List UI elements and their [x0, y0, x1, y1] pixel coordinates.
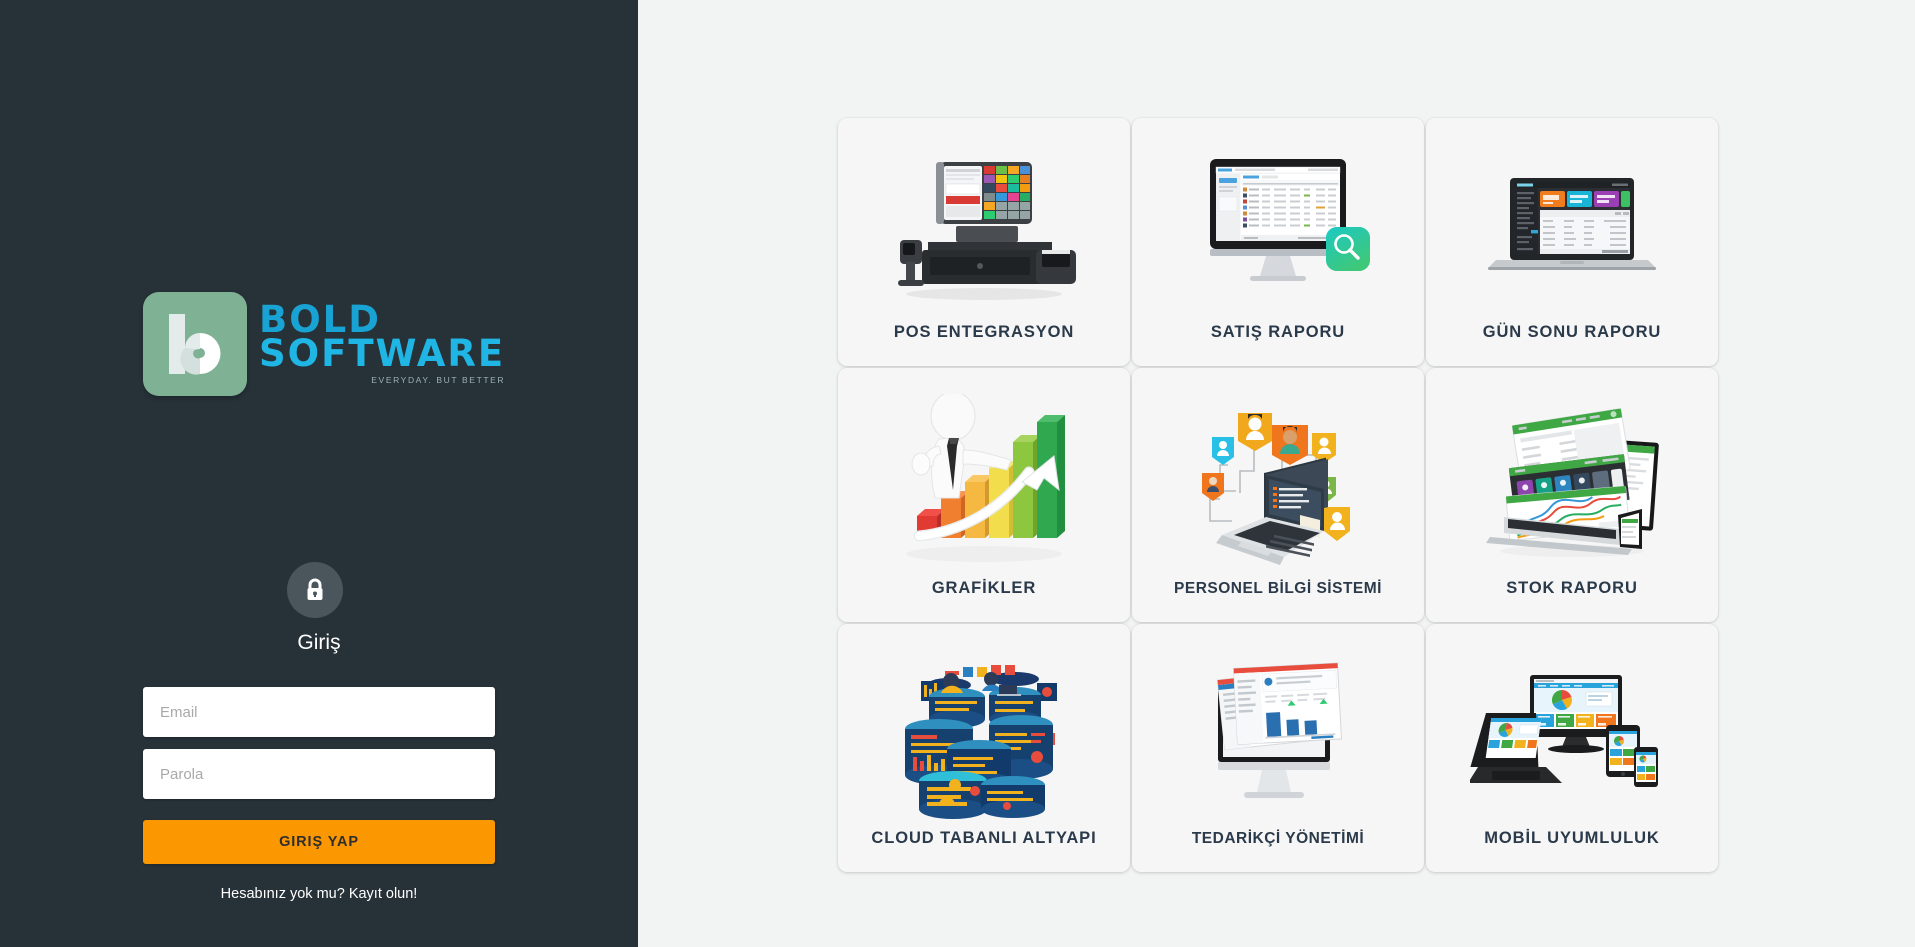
feature-card-title: GÜN SONU RAPORU: [1477, 323, 1668, 366]
feature-card-stok-raporu[interactable]: STOK RAPORU: [1426, 368, 1718, 622]
bar-chart-figure-image: [838, 384, 1130, 579]
feature-area: POS ENTEGRASYON: [638, 0, 1915, 947]
feature-card-gun-sonu-raporu[interactable]: GÜN SONU RAPORU: [1426, 118, 1718, 366]
logo-mark-icon: [143, 292, 247, 396]
login-panel: BOLD SOFTWARE EVERYDAY. BUT BETTER Giriş…: [0, 0, 638, 947]
login-submit-button[interactable]: GIRIŞ YAP: [143, 820, 495, 864]
database-cluster-image: [838, 640, 1130, 829]
email-field[interactable]: [143, 687, 495, 737]
feature-card-pos-entegrasyon[interactable]: POS ENTEGRASYON: [838, 118, 1130, 366]
feature-card-title: POS ENTEGRASYON: [888, 323, 1080, 366]
monitor-dashboard-windows-image: [1132, 640, 1424, 830]
feature-card-personel-bilgi-sistemi[interactable]: PERSONEL BİLGİ SİSTEMİ: [1132, 368, 1424, 622]
feature-card-grafikler[interactable]: GRAFİKLER: [838, 368, 1130, 622]
feature-grid: POS ENTEGRASYON: [838, 118, 1720, 874]
page-title: Giriş: [0, 631, 638, 655]
feature-card-title: TEDARİKÇİ YÖNETİMİ: [1186, 830, 1370, 872]
logo-tagline: EVERYDAY. BUT BETTER: [259, 377, 505, 385]
feature-card-cloud-tabanli-altyapi[interactable]: CLOUD TABANLI ALTYAPI: [838, 624, 1130, 872]
password-field[interactable]: [143, 749, 495, 799]
feature-card-mobil-uyumluluk[interactable]: MOBİL UYUMLULUK: [1426, 624, 1718, 872]
multi-device-responsive-image: [1426, 640, 1718, 829]
lock-icon: [287, 562, 343, 618]
feature-card-title: STOK RAPORU: [1500, 579, 1644, 622]
feature-card-title: MOBİL UYUMLULUK: [1478, 829, 1665, 872]
feature-card-tedarikci-yonetimi[interactable]: TEDARİKÇİ YÖNETİMİ: [1132, 624, 1424, 872]
feature-card-title: GRAFİKLER: [926, 579, 1042, 622]
logo-word-software: SOFTWARE: [259, 337, 505, 371]
feature-card-title: PERSONEL BİLGİ SİSTEMİ: [1168, 580, 1388, 622]
brand-logo: BOLD SOFTWARE EVERYDAY. BUT BETTER: [143, 292, 505, 396]
pos-terminal-image: [838, 134, 1130, 323]
login-form: GIRIŞ YAP Hesabınız yok mu? Kayıt olun!: [143, 687, 495, 902]
laptop-dashboard-image: [1426, 134, 1718, 323]
register-link[interactable]: Hesabınız yok mu? Kayıt olun!: [143, 886, 495, 902]
desktop-monitor-report-image: [1132, 134, 1424, 323]
laptop-stacked-windows-image: [1426, 384, 1718, 579]
feature-card-title: CLOUD TABANLI ALTYAPI: [865, 829, 1102, 872]
laptop-people-network-image: [1132, 384, 1424, 580]
feature-card-title: SATIŞ RAPORU: [1205, 323, 1351, 366]
feature-card-satis-raporu[interactable]: SATIŞ RAPORU: [1132, 118, 1424, 366]
